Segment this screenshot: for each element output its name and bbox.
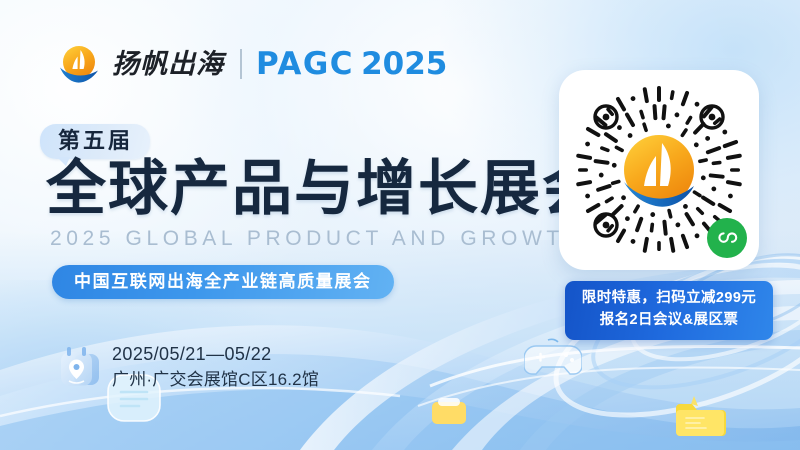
game-controller-icon	[524, 336, 582, 380]
event-year: 2025	[361, 46, 447, 82]
page-title: 全球产品与增长展会	[46, 158, 604, 221]
brand-header: 扬帆出海 PAGC2025	[56, 40, 447, 88]
event-venue: 广州·广交会展馆C区16.2馆	[112, 369, 319, 392]
event-info: 2025/05/21—05/22 广州·广交会展馆C区16.2馆	[58, 342, 319, 392]
promo-line-2: 报名2日会议&展区票	[571, 310, 767, 332]
poster-canvas: 扬帆出海 PAGC2025 第五届 全球产品与增长展会 2025 GLOBAL …	[0, 0, 800, 450]
sail-sun-logo-icon	[56, 41, 102, 87]
event-info-text: 2025/05/21—05/22 广州·广交会展馆C区16.2馆	[112, 342, 319, 392]
brand-name: 扬帆出海	[112, 51, 224, 78]
brand-divider	[240, 49, 242, 79]
card-icon	[430, 396, 470, 428]
event-code-logo: PAGC2025	[256, 49, 447, 80]
event-code: PAGC	[256, 46, 354, 82]
promo-banner[interactable]: 限时特惠，扫码立减299元 报名2日会议&展区票	[565, 281, 773, 340]
event-date: 2025/05/21—05/22	[112, 342, 319, 366]
miniprogram-glyph	[715, 226, 739, 250]
wechat-miniprogram-icon	[707, 218, 747, 258]
promo-line-1: 限时特惠，扫码立减299元	[571, 288, 767, 310]
location-pin-icon	[58, 344, 102, 390]
qr-code-card[interactable]	[559, 70, 759, 270]
folder-icon	[672, 392, 726, 438]
slogan-pill: 中国互联网出海全产业链高质量展会	[52, 265, 394, 299]
